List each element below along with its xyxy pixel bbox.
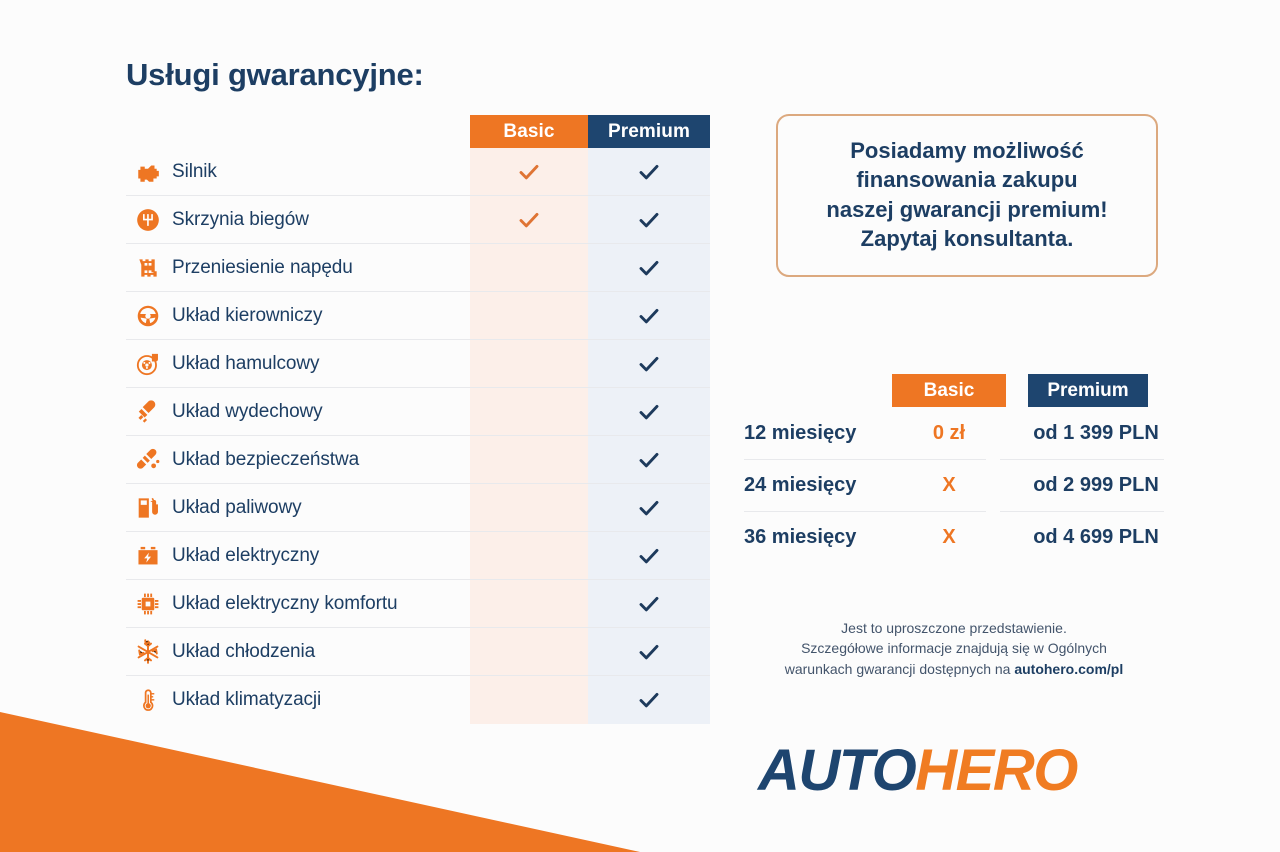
pricing-table-header: Basic Premium [744, 374, 1164, 407]
snowflake-icon [135, 639, 161, 665]
service-label: Układ paliwowy [172, 497, 470, 519]
disclaimer-line-3: warunkach gwarancji dostępnych na autohe… [744, 659, 1164, 679]
premium-cell [588, 436, 710, 483]
check-icon [637, 640, 661, 664]
premium-cell [588, 244, 710, 291]
pricing-basic-value: 0 zł [892, 422, 1006, 445]
service-label: Układ wydechowy [172, 401, 470, 423]
service-icon-wrap [126, 159, 172, 185]
pricing-row: 36 miesięcyXod 4 699 PLN [744, 511, 1164, 563]
header-spacer [126, 115, 470, 148]
pricing-basic-value: X [892, 526, 1006, 549]
pricing-header-basic: Basic [892, 374, 1006, 407]
pricing-row-list: 12 miesięcy0 złod 1 399 PLN24 miesięcyXo… [744, 407, 1164, 563]
disclaimer-text: Jest to uproszczone przedstawienie. Szcz… [744, 618, 1164, 679]
table-row: Układ wydechowy [126, 388, 710, 436]
service-icon-wrap [126, 399, 172, 425]
drivetrain-icon [135, 255, 161, 281]
column-header-premium: Premium [588, 115, 710, 148]
finance-callout-line-2: finansowania zakupu [794, 165, 1140, 194]
table-row: Układ chłodzenia [126, 628, 710, 676]
basic-cell [470, 580, 588, 627]
check-icon [637, 352, 661, 376]
check-icon [637, 256, 661, 280]
service-icon-wrap [126, 591, 172, 617]
pricing-row: 12 miesięcy0 złod 1 399 PLN [744, 407, 1164, 459]
battery-icon [135, 543, 161, 569]
exhaust-icon [135, 399, 161, 425]
check-icon [637, 592, 661, 616]
check-icon [637, 208, 661, 232]
premium-cell [588, 676, 710, 724]
finance-panel: Posiadamy możliwość finansowania zakupu … [776, 114, 1158, 277]
basic-cell [470, 292, 588, 339]
page-title: Usługi gwarancyjne: [126, 58, 716, 92]
fuel-pump-icon [135, 495, 161, 521]
service-label: Układ klimatyzacji [172, 689, 470, 711]
service-label: Silnik [172, 161, 470, 183]
check-icon [637, 688, 661, 712]
check-icon [517, 160, 541, 184]
premium-cell [588, 484, 710, 531]
pricing-premium-value: od 1 399 PLN [1028, 422, 1164, 445]
table-row: Układ elektryczny komfortu [126, 580, 710, 628]
check-icon [637, 448, 661, 472]
service-icon-wrap [126, 543, 172, 569]
basic-cell [470, 340, 588, 387]
premium-cell [588, 532, 710, 579]
services-row-list: SilnikSkrzynia biegówPrzeniesienie napęd… [126, 148, 710, 724]
premium-cell [588, 388, 710, 435]
service-icon-wrap [126, 207, 172, 233]
brake-disc-icon [135, 351, 161, 377]
disclaimer-line-1: Jest to uproszczone przedstawienie. [744, 618, 1164, 638]
service-label: Przeniesienie napędu [172, 257, 470, 279]
premium-cell [588, 340, 710, 387]
services-table: Basic Premium SilnikSkrzynia biegówPrzen… [126, 115, 710, 724]
engine-icon [135, 159, 161, 185]
gearbox-icon [135, 207, 161, 233]
service-label: Układ kierowniczy [172, 305, 470, 327]
pricing-premium-value: od 2 999 PLN [1028, 474, 1164, 497]
pricing-table: Basic Premium 12 miesięcy0 złod 1 399 PL… [744, 374, 1164, 563]
logo-auto-text: AUTO [758, 738, 915, 803]
services-table-header: Basic Premium [126, 115, 710, 148]
service-icon-wrap [126, 447, 172, 473]
check-icon [637, 160, 661, 184]
premium-cell [588, 580, 710, 627]
check-icon [637, 400, 661, 424]
table-row: Układ hamulcowy [126, 340, 710, 388]
service-label: Układ elektryczny [172, 545, 470, 567]
thermometer-icon [135, 687, 161, 713]
check-icon [637, 544, 661, 568]
table-row: Układ kierowniczy [126, 292, 710, 340]
finance-callout-line-1: Posiadamy możliwość [794, 136, 1140, 165]
services-panel: Usługi gwarancyjne: Basic Premium Silnik… [126, 58, 716, 724]
basic-cell [470, 148, 588, 195]
basic-cell [470, 628, 588, 675]
check-icon [637, 304, 661, 328]
pricing-basic-value: X [892, 474, 1006, 497]
service-icon-wrap [126, 687, 172, 713]
pricing-header-premium: Premium [1028, 374, 1148, 407]
disclaimer-line-3-prefix: warunkach gwarancji dostępnych na [785, 661, 1015, 677]
basic-cell [470, 388, 588, 435]
autohero-website-link[interactable]: autohero.com/pl [1014, 661, 1123, 677]
service-label: Układ chłodzenia [172, 641, 470, 663]
autohero-logo: AUTOHERO [758, 742, 1077, 800]
service-icon-wrap [126, 495, 172, 521]
pricing-term: 36 miesięcy [744, 526, 892, 549]
basic-cell [470, 484, 588, 531]
service-icon-wrap [126, 303, 172, 329]
pricing-term: 12 miesięcy [744, 422, 892, 445]
finance-callout-box: Posiadamy możliwość finansowania zakupu … [776, 114, 1158, 277]
premium-cell [588, 148, 710, 195]
premium-cell [588, 196, 710, 243]
disclaimer-line-2: Szczegółowe informacje znajdują się w Og… [744, 638, 1164, 658]
table-row: Układ bezpieczeństwa [126, 436, 710, 484]
column-header-basic: Basic [470, 115, 588, 148]
basic-cell [470, 532, 588, 579]
table-row: Układ paliwowy [126, 484, 710, 532]
premium-cell [588, 292, 710, 339]
service-icon-wrap [126, 351, 172, 377]
table-row: Układ elektryczny [126, 532, 710, 580]
basic-cell [470, 196, 588, 243]
finance-callout-line-3: naszej gwarancji premium! [794, 195, 1140, 224]
logo-hero-text: HERO [915, 738, 1077, 803]
basic-cell [470, 676, 588, 724]
pricing-premium-value: od 4 699 PLN [1028, 526, 1164, 549]
basic-cell [470, 244, 588, 291]
service-label: Układ bezpieczeństwa [172, 449, 470, 471]
seatbelt-icon [135, 447, 161, 473]
steering-wheel-icon [135, 303, 161, 329]
table-row: Przeniesienie napędu [126, 244, 710, 292]
table-row: Skrzynia biegów [126, 196, 710, 244]
table-row: Układ klimatyzacji [126, 676, 710, 724]
check-icon [637, 496, 661, 520]
pricing-row: 24 miesięcyXod 2 999 PLN [744, 459, 1164, 511]
premium-cell [588, 628, 710, 675]
service-label: Układ elektryczny komfortu [172, 593, 470, 615]
service-label: Skrzynia biegów [172, 209, 470, 231]
table-row: Silnik [126, 148, 710, 196]
service-icon-wrap [126, 255, 172, 281]
service-icon-wrap [126, 639, 172, 665]
pricing-term: 24 miesięcy [744, 474, 892, 497]
check-icon [517, 208, 541, 232]
service-label: Układ hamulcowy [172, 353, 470, 375]
basic-cell [470, 436, 588, 483]
finance-callout-line-4: Zapytaj konsultanta. [794, 224, 1140, 253]
chip-icon [135, 591, 161, 617]
